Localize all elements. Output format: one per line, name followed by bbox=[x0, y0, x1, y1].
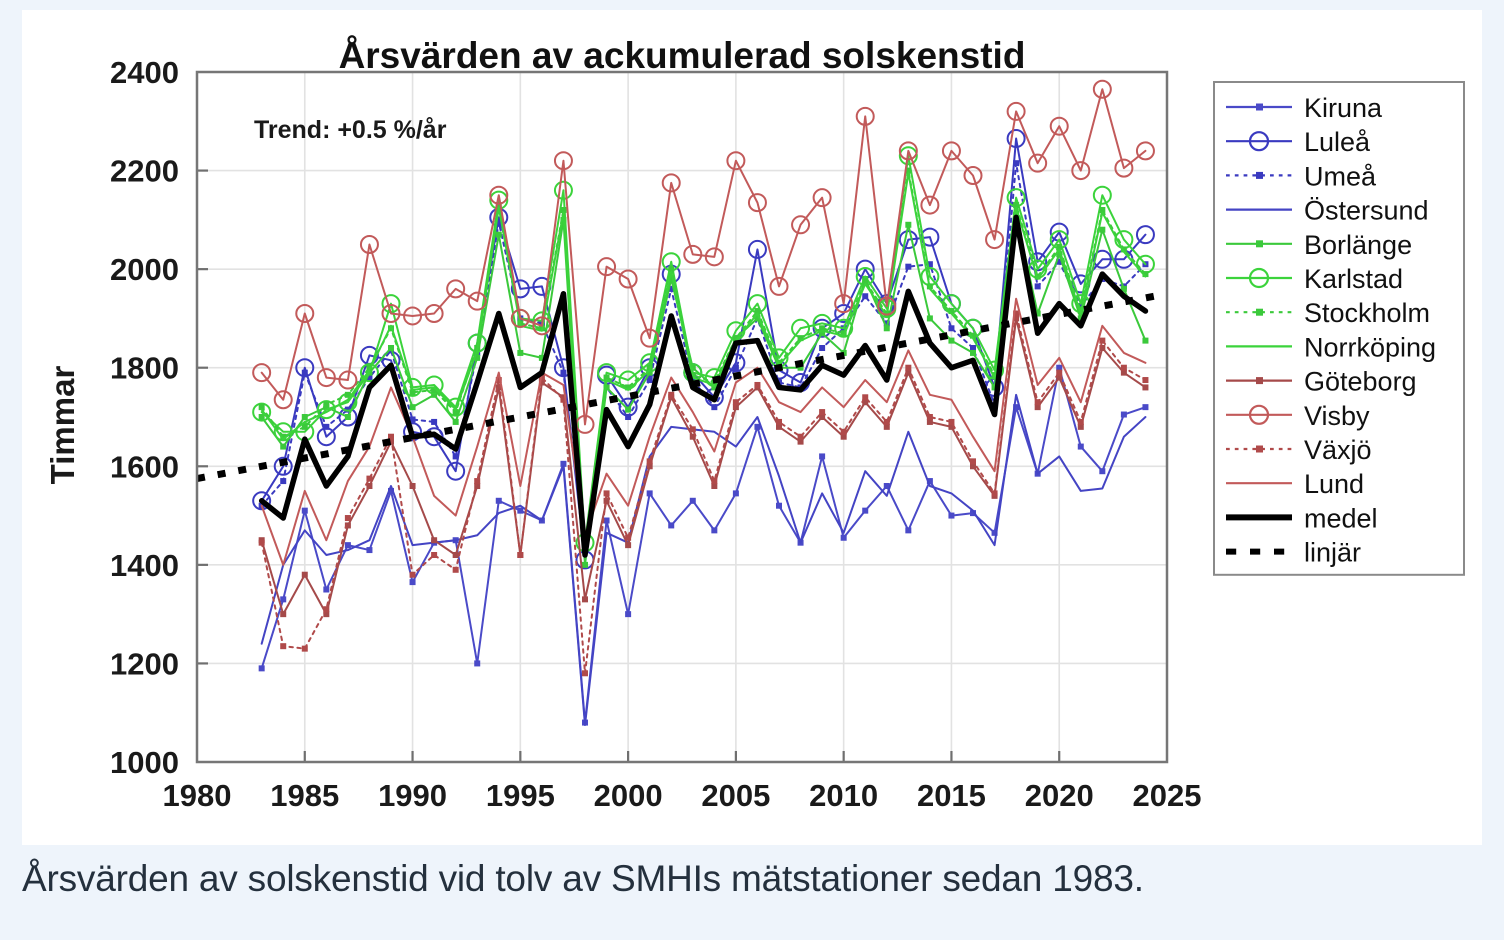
data-point-marker bbox=[625, 611, 631, 617]
data-point-marker bbox=[798, 434, 804, 440]
data-point-marker bbox=[625, 542, 631, 548]
data-point-marker bbox=[280, 478, 286, 484]
x-tick-label: 1980 bbox=[163, 778, 232, 813]
data-point-marker bbox=[1099, 227, 1105, 233]
data-point-marker bbox=[1013, 160, 1019, 166]
data-point-marker bbox=[647, 458, 653, 464]
data-point-marker bbox=[625, 414, 631, 420]
data-point-marker bbox=[410, 483, 416, 489]
data-point-marker bbox=[323, 402, 329, 408]
data-point-marker bbox=[905, 527, 911, 533]
y-tick-label: 2200 bbox=[110, 154, 179, 189]
data-point-marker bbox=[992, 490, 998, 496]
data-point-marker bbox=[690, 426, 696, 432]
data-point-marker bbox=[366, 476, 372, 482]
chart-title: Årsvärden av ackumulerad solskenstid bbox=[339, 35, 1026, 76]
data-point-marker bbox=[862, 394, 868, 400]
data-point-marker bbox=[302, 572, 308, 578]
legend-marker bbox=[1256, 377, 1263, 384]
data-point-marker bbox=[776, 419, 782, 425]
data-point-marker bbox=[647, 490, 653, 496]
data-point-marker bbox=[345, 515, 351, 521]
data-point-marker bbox=[905, 264, 911, 270]
data-point-marker bbox=[1056, 370, 1062, 376]
data-point-marker bbox=[1099, 468, 1105, 474]
legend-label: linjär bbox=[1304, 538, 1361, 568]
legend-marker bbox=[1256, 240, 1263, 247]
data-point-marker bbox=[948, 513, 954, 519]
legend-marker bbox=[1256, 309, 1263, 316]
y-axis-title: Timmar bbox=[44, 366, 81, 485]
data-point-marker bbox=[841, 535, 847, 541]
data-point-marker bbox=[280, 444, 286, 450]
data-point-marker bbox=[323, 424, 329, 430]
data-point-marker bbox=[776, 503, 782, 509]
data-point-marker bbox=[453, 453, 459, 459]
y-tick-label: 1800 bbox=[110, 351, 179, 386]
data-point-marker bbox=[905, 222, 911, 228]
data-point-marker bbox=[1142, 338, 1148, 344]
y-tick-label: 2400 bbox=[110, 55, 179, 90]
data-point-marker bbox=[733, 365, 739, 371]
legend-label: Östersund bbox=[1304, 196, 1429, 226]
data-point-marker bbox=[560, 370, 566, 376]
x-tick-label: 2010 bbox=[809, 778, 878, 813]
data-point-marker bbox=[474, 478, 480, 484]
data-point-marker bbox=[819, 453, 825, 459]
data-point-marker bbox=[582, 670, 588, 676]
data-point-marker bbox=[948, 419, 954, 425]
legend-label: Karlstad bbox=[1304, 264, 1403, 294]
legend-marker bbox=[1256, 104, 1263, 111]
data-point-marker bbox=[1099, 338, 1105, 344]
data-point-marker bbox=[345, 414, 351, 420]
data-point-marker bbox=[970, 458, 976, 464]
y-tick-label: 1200 bbox=[110, 646, 179, 681]
data-point-marker bbox=[668, 522, 674, 528]
data-point-marker bbox=[905, 365, 911, 371]
data-point-marker bbox=[517, 552, 523, 558]
legend-label: Umeå bbox=[1304, 161, 1377, 191]
x-tick-label: 2000 bbox=[594, 778, 663, 813]
data-point-marker bbox=[884, 325, 890, 331]
data-point-marker bbox=[604, 518, 610, 524]
legend-label: Lund bbox=[1304, 469, 1364, 499]
legend-label: Luleå bbox=[1304, 127, 1371, 157]
data-point-marker bbox=[711, 404, 717, 410]
data-point-marker bbox=[733, 490, 739, 496]
chart-legend: KirunaLuleåUmeåÖstersundBorlängeKarlstad… bbox=[1214, 82, 1464, 575]
data-point-marker bbox=[410, 404, 416, 410]
data-point-marker bbox=[1142, 377, 1148, 383]
data-point-marker bbox=[517, 350, 523, 356]
figure-card: Årsvärden av ackumulerad solskenstid 100… bbox=[22, 10, 1482, 845]
legend-label: Norrköping bbox=[1304, 332, 1436, 362]
data-point-marker bbox=[733, 399, 739, 405]
data-point-marker bbox=[819, 345, 825, 351]
data-point-marker bbox=[323, 587, 329, 593]
data-point-marker bbox=[841, 429, 847, 435]
data-point-marker bbox=[431, 419, 437, 425]
y-tick-label: 1600 bbox=[110, 449, 179, 484]
legend-label: Göteborg bbox=[1304, 367, 1417, 397]
data-point-marker bbox=[453, 419, 459, 425]
data-point-marker bbox=[431, 552, 437, 558]
legend-marker bbox=[1256, 172, 1263, 179]
data-point-marker bbox=[302, 508, 308, 514]
x-tick-label: 2015 bbox=[917, 778, 986, 813]
data-point-marker bbox=[1035, 283, 1041, 289]
data-point-marker bbox=[927, 315, 933, 321]
data-point-marker bbox=[862, 293, 868, 299]
data-point-marker bbox=[970, 350, 976, 356]
legend-label: medel bbox=[1304, 503, 1378, 533]
data-point-marker bbox=[582, 596, 588, 602]
data-point-marker bbox=[884, 419, 890, 425]
sunshine-hours-chart: Årsvärden av ackumulerad solskenstid 100… bbox=[22, 10, 1482, 845]
figure-caption: Årsvärden av solskenstid vid tolv av SMH… bbox=[22, 858, 1482, 900]
data-point-marker bbox=[474, 660, 480, 666]
data-point-marker bbox=[431, 537, 437, 543]
data-point-marker bbox=[1121, 412, 1127, 418]
data-point-marker bbox=[1078, 444, 1084, 450]
legend-label: Borlänge bbox=[1304, 230, 1412, 260]
data-point-marker bbox=[1035, 399, 1041, 405]
data-point-marker bbox=[453, 552, 459, 558]
y-tick-label: 1400 bbox=[110, 548, 179, 583]
data-point-marker bbox=[280, 611, 286, 617]
legend-label: Stockholm bbox=[1304, 298, 1430, 328]
data-point-marker bbox=[366, 547, 372, 553]
data-point-marker bbox=[1142, 384, 1148, 390]
data-point-marker bbox=[668, 392, 674, 398]
legend-label: Växjö bbox=[1304, 435, 1372, 465]
data-point-marker bbox=[927, 414, 933, 420]
data-point-marker bbox=[1078, 419, 1084, 425]
legend-marker bbox=[1256, 446, 1263, 453]
legend-label: Kiruna bbox=[1304, 93, 1383, 123]
data-point-marker bbox=[711, 478, 717, 484]
data-point-marker bbox=[862, 508, 868, 514]
data-point-marker bbox=[711, 527, 717, 533]
x-tick-label: 1990 bbox=[378, 778, 447, 813]
data-point-marker bbox=[345, 542, 351, 548]
data-point-marker bbox=[280, 596, 286, 602]
data-point-marker bbox=[819, 409, 825, 415]
y-tick-label: 2000 bbox=[110, 252, 179, 287]
data-point-marker bbox=[754, 382, 760, 388]
legend-label: Visby bbox=[1304, 401, 1370, 431]
data-point-marker bbox=[948, 325, 954, 331]
data-point-marker bbox=[280, 643, 286, 649]
data-point-marker bbox=[388, 345, 394, 351]
data-point-marker bbox=[1142, 404, 1148, 410]
trend-annotation: Trend: +0.5 %/år bbox=[254, 116, 447, 144]
data-point-marker bbox=[1121, 365, 1127, 371]
data-point-marker bbox=[948, 338, 954, 344]
data-point-marker bbox=[625, 535, 631, 541]
data-point-marker bbox=[259, 540, 265, 546]
data-point-marker bbox=[517, 508, 523, 514]
x-tick-label: 1985 bbox=[270, 778, 339, 813]
x-tick-label: 2005 bbox=[701, 778, 770, 813]
x-tick-label: 1995 bbox=[486, 778, 555, 813]
x-tick-label: 2020 bbox=[1025, 778, 1094, 813]
data-point-marker bbox=[690, 498, 696, 504]
data-point-marker bbox=[604, 490, 610, 496]
data-point-marker bbox=[302, 414, 308, 420]
data-point-marker bbox=[496, 498, 502, 504]
data-point-marker bbox=[582, 562, 588, 568]
data-point-marker bbox=[259, 665, 265, 671]
data-point-marker bbox=[302, 370, 308, 376]
x-tick-label: 2025 bbox=[1133, 778, 1202, 813]
data-point-marker bbox=[496, 232, 502, 238]
data-point-marker bbox=[625, 407, 631, 413]
data-point-marker bbox=[410, 579, 416, 585]
data-point-marker bbox=[410, 572, 416, 578]
data-point-marker bbox=[323, 606, 329, 612]
data-point-marker bbox=[302, 646, 308, 652]
y-tick-label: 1000 bbox=[110, 745, 179, 780]
data-point-marker bbox=[453, 567, 459, 573]
